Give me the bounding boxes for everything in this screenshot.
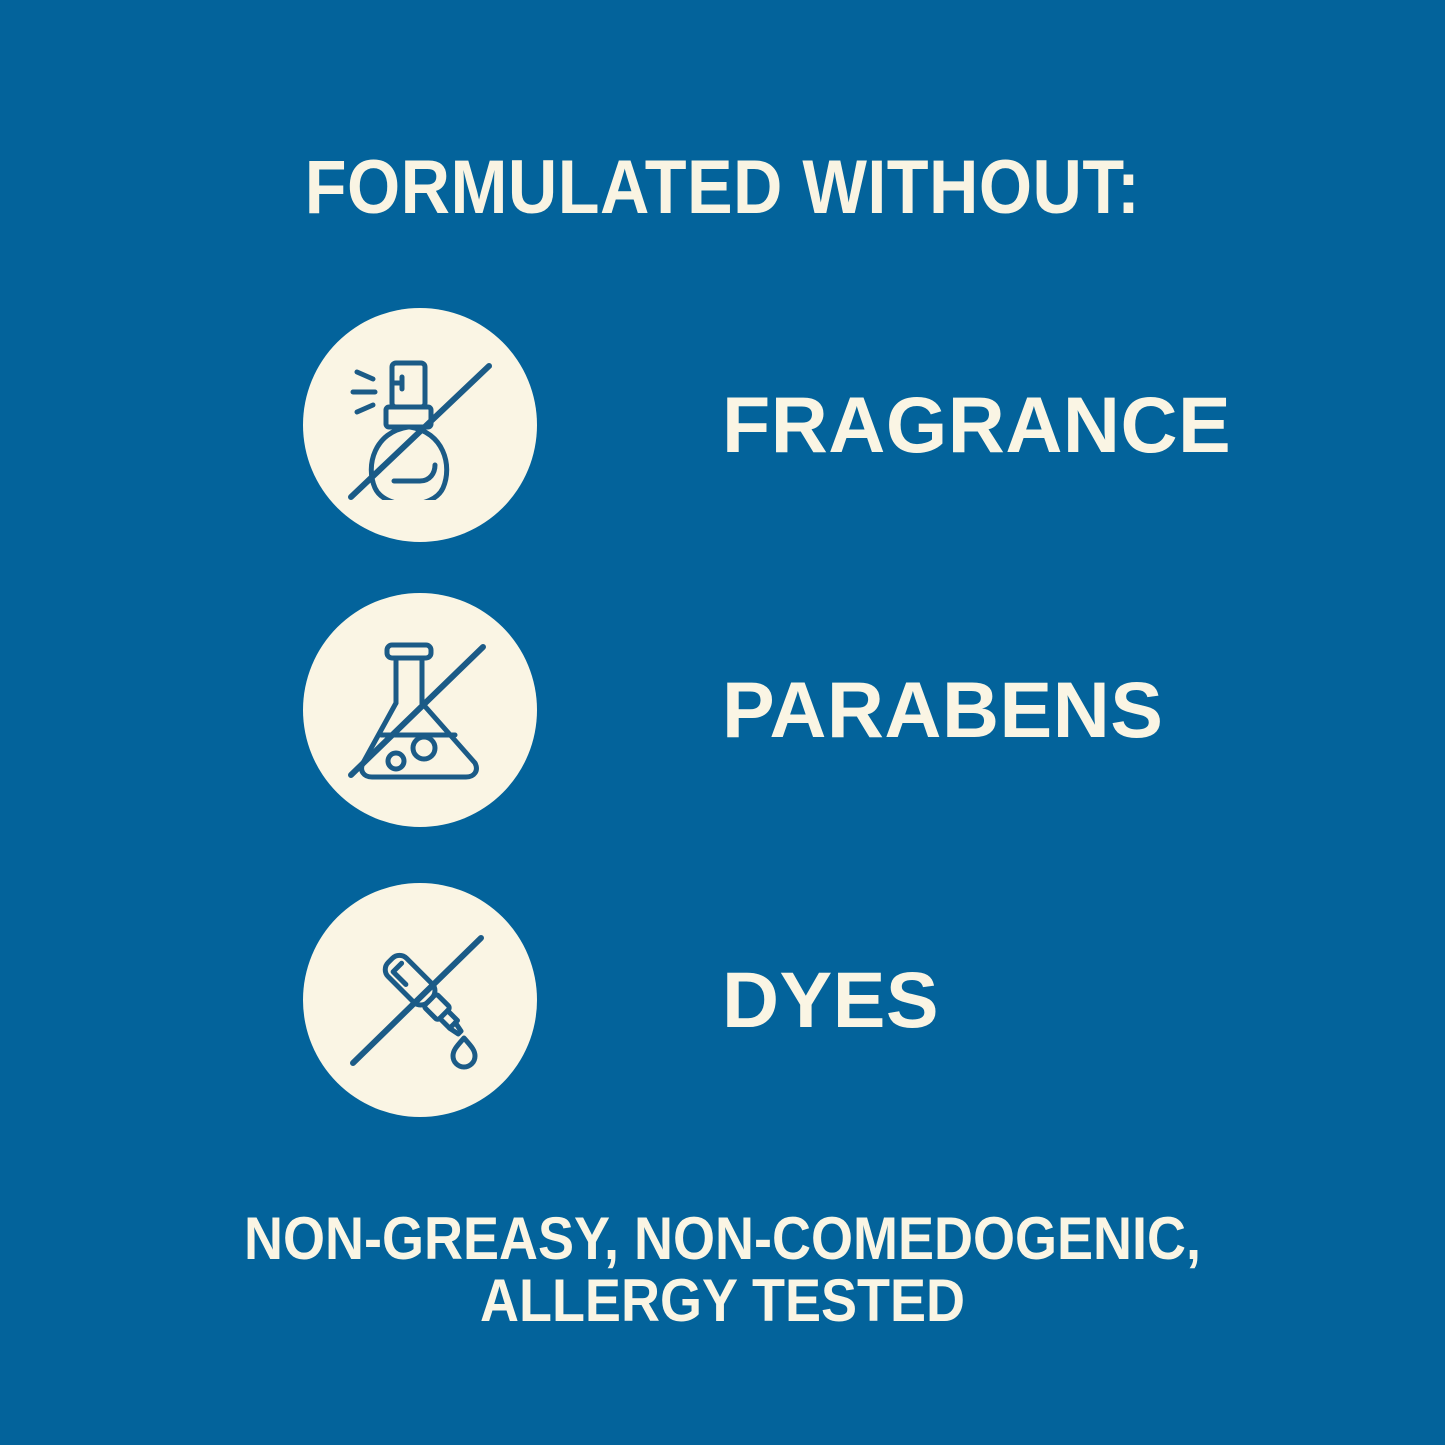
footer-line-1: NON-GREASY, NON-COMEDOGENIC, <box>72 1208 1373 1270</box>
footer-line-2: ALLERGY TESTED <box>72 1270 1373 1332</box>
no-fragrance-bottle-icon <box>303 308 537 542</box>
benefit-row-fragrance: FRAGRANCE <box>303 307 1203 543</box>
benefit-row-parabens: PARABENS <box>303 592 1203 828</box>
no-flask-icon <box>303 593 537 827</box>
no-dropper-icon <box>303 883 537 1117</box>
benefit-label: FRAGRANCE <box>722 383 1231 467</box>
benefit-row-dyes: DYES <box>303 882 1203 1118</box>
formulated-without-panel: FORMULATED WITHOUT: FRAGRANCE <box>0 0 1445 1445</box>
page-title: FORMULATED WITHOUT: <box>72 148 1373 228</box>
benefit-label: DYES <box>722 958 939 1042</box>
benefit-label: PARABENS <box>722 668 1163 752</box>
footer-claims: NON-GREASY, NON-COMEDOGENIC, ALLERGY TES… <box>0 1208 1445 1332</box>
